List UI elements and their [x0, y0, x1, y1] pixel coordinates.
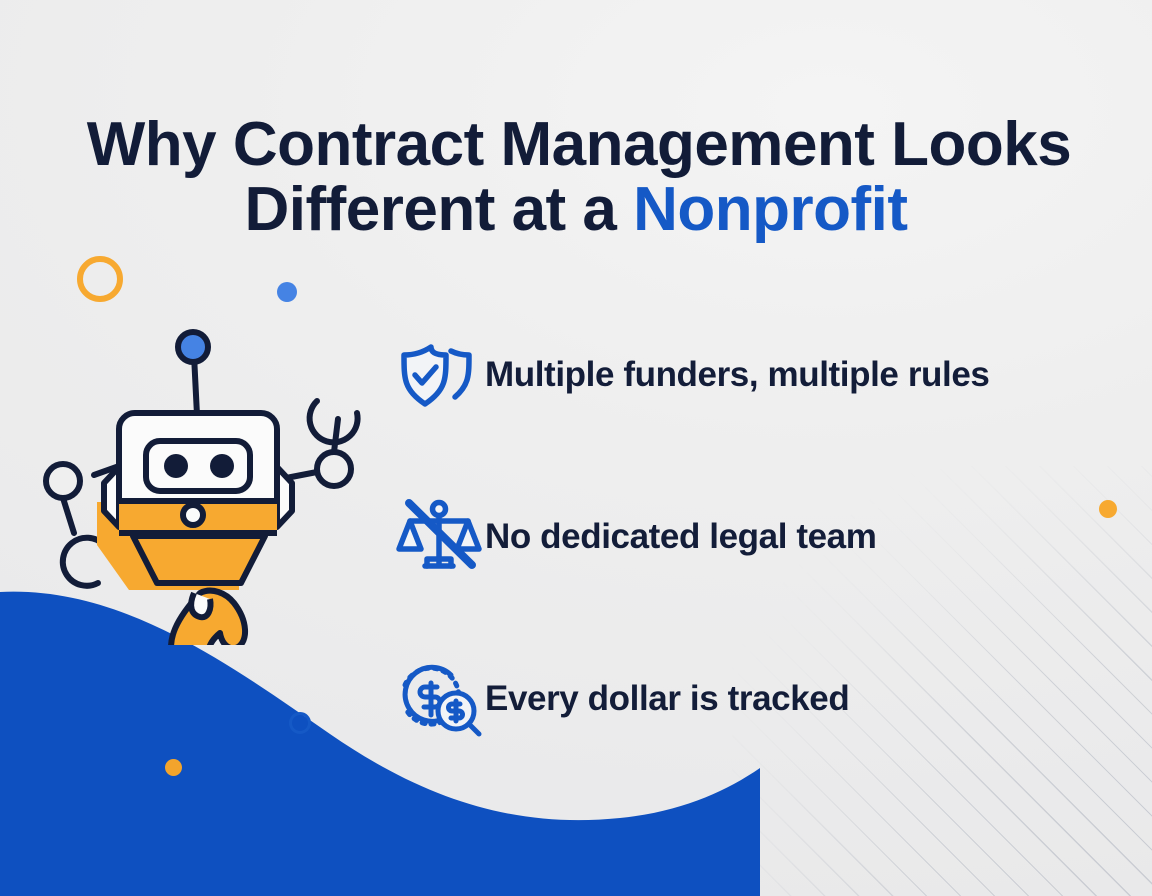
feature-list: Multiple funders, multiple rules — [393, 325, 1093, 749]
rocket-robot-mascot — [34, 315, 394, 645]
page-title: Why Contract Management Looks Different … — [0, 112, 1152, 243]
title-line-2: Different at a Nonprofit — [0, 177, 1152, 243]
title-accent-word: Nonprofit — [633, 175, 907, 244]
blue-ring-decoration — [289, 712, 311, 734]
dollar-magnifier-icon — [393, 653, 485, 745]
feature-item-legal-team: No dedicated legal team — [393, 487, 1093, 587]
shield-check-icon — [393, 329, 485, 421]
no-legal-scales-icon — [393, 491, 485, 583]
feature-label: No dedicated legal team — [485, 517, 876, 557]
orange-dot-decoration-right — [1099, 500, 1117, 518]
title-line-2-prefix: Different at a — [244, 175, 633, 244]
feature-label: Every dollar is tracked — [485, 679, 849, 719]
feature-item-dollar-tracked: Every dollar is tracked — [393, 649, 1093, 749]
blue-dot-decoration — [277, 282, 297, 302]
title-line-1: Why Contract Management Looks — [0, 112, 1152, 178]
orange-dot-decoration-wave — [165, 759, 182, 776]
feature-label: Multiple funders, multiple rules — [485, 355, 989, 395]
infographic-canvas: Why Contract Management Looks Different … — [0, 0, 1152, 896]
orange-ring-decoration — [77, 256, 123, 302]
feature-item-funders: Multiple funders, multiple rules — [393, 325, 1093, 425]
